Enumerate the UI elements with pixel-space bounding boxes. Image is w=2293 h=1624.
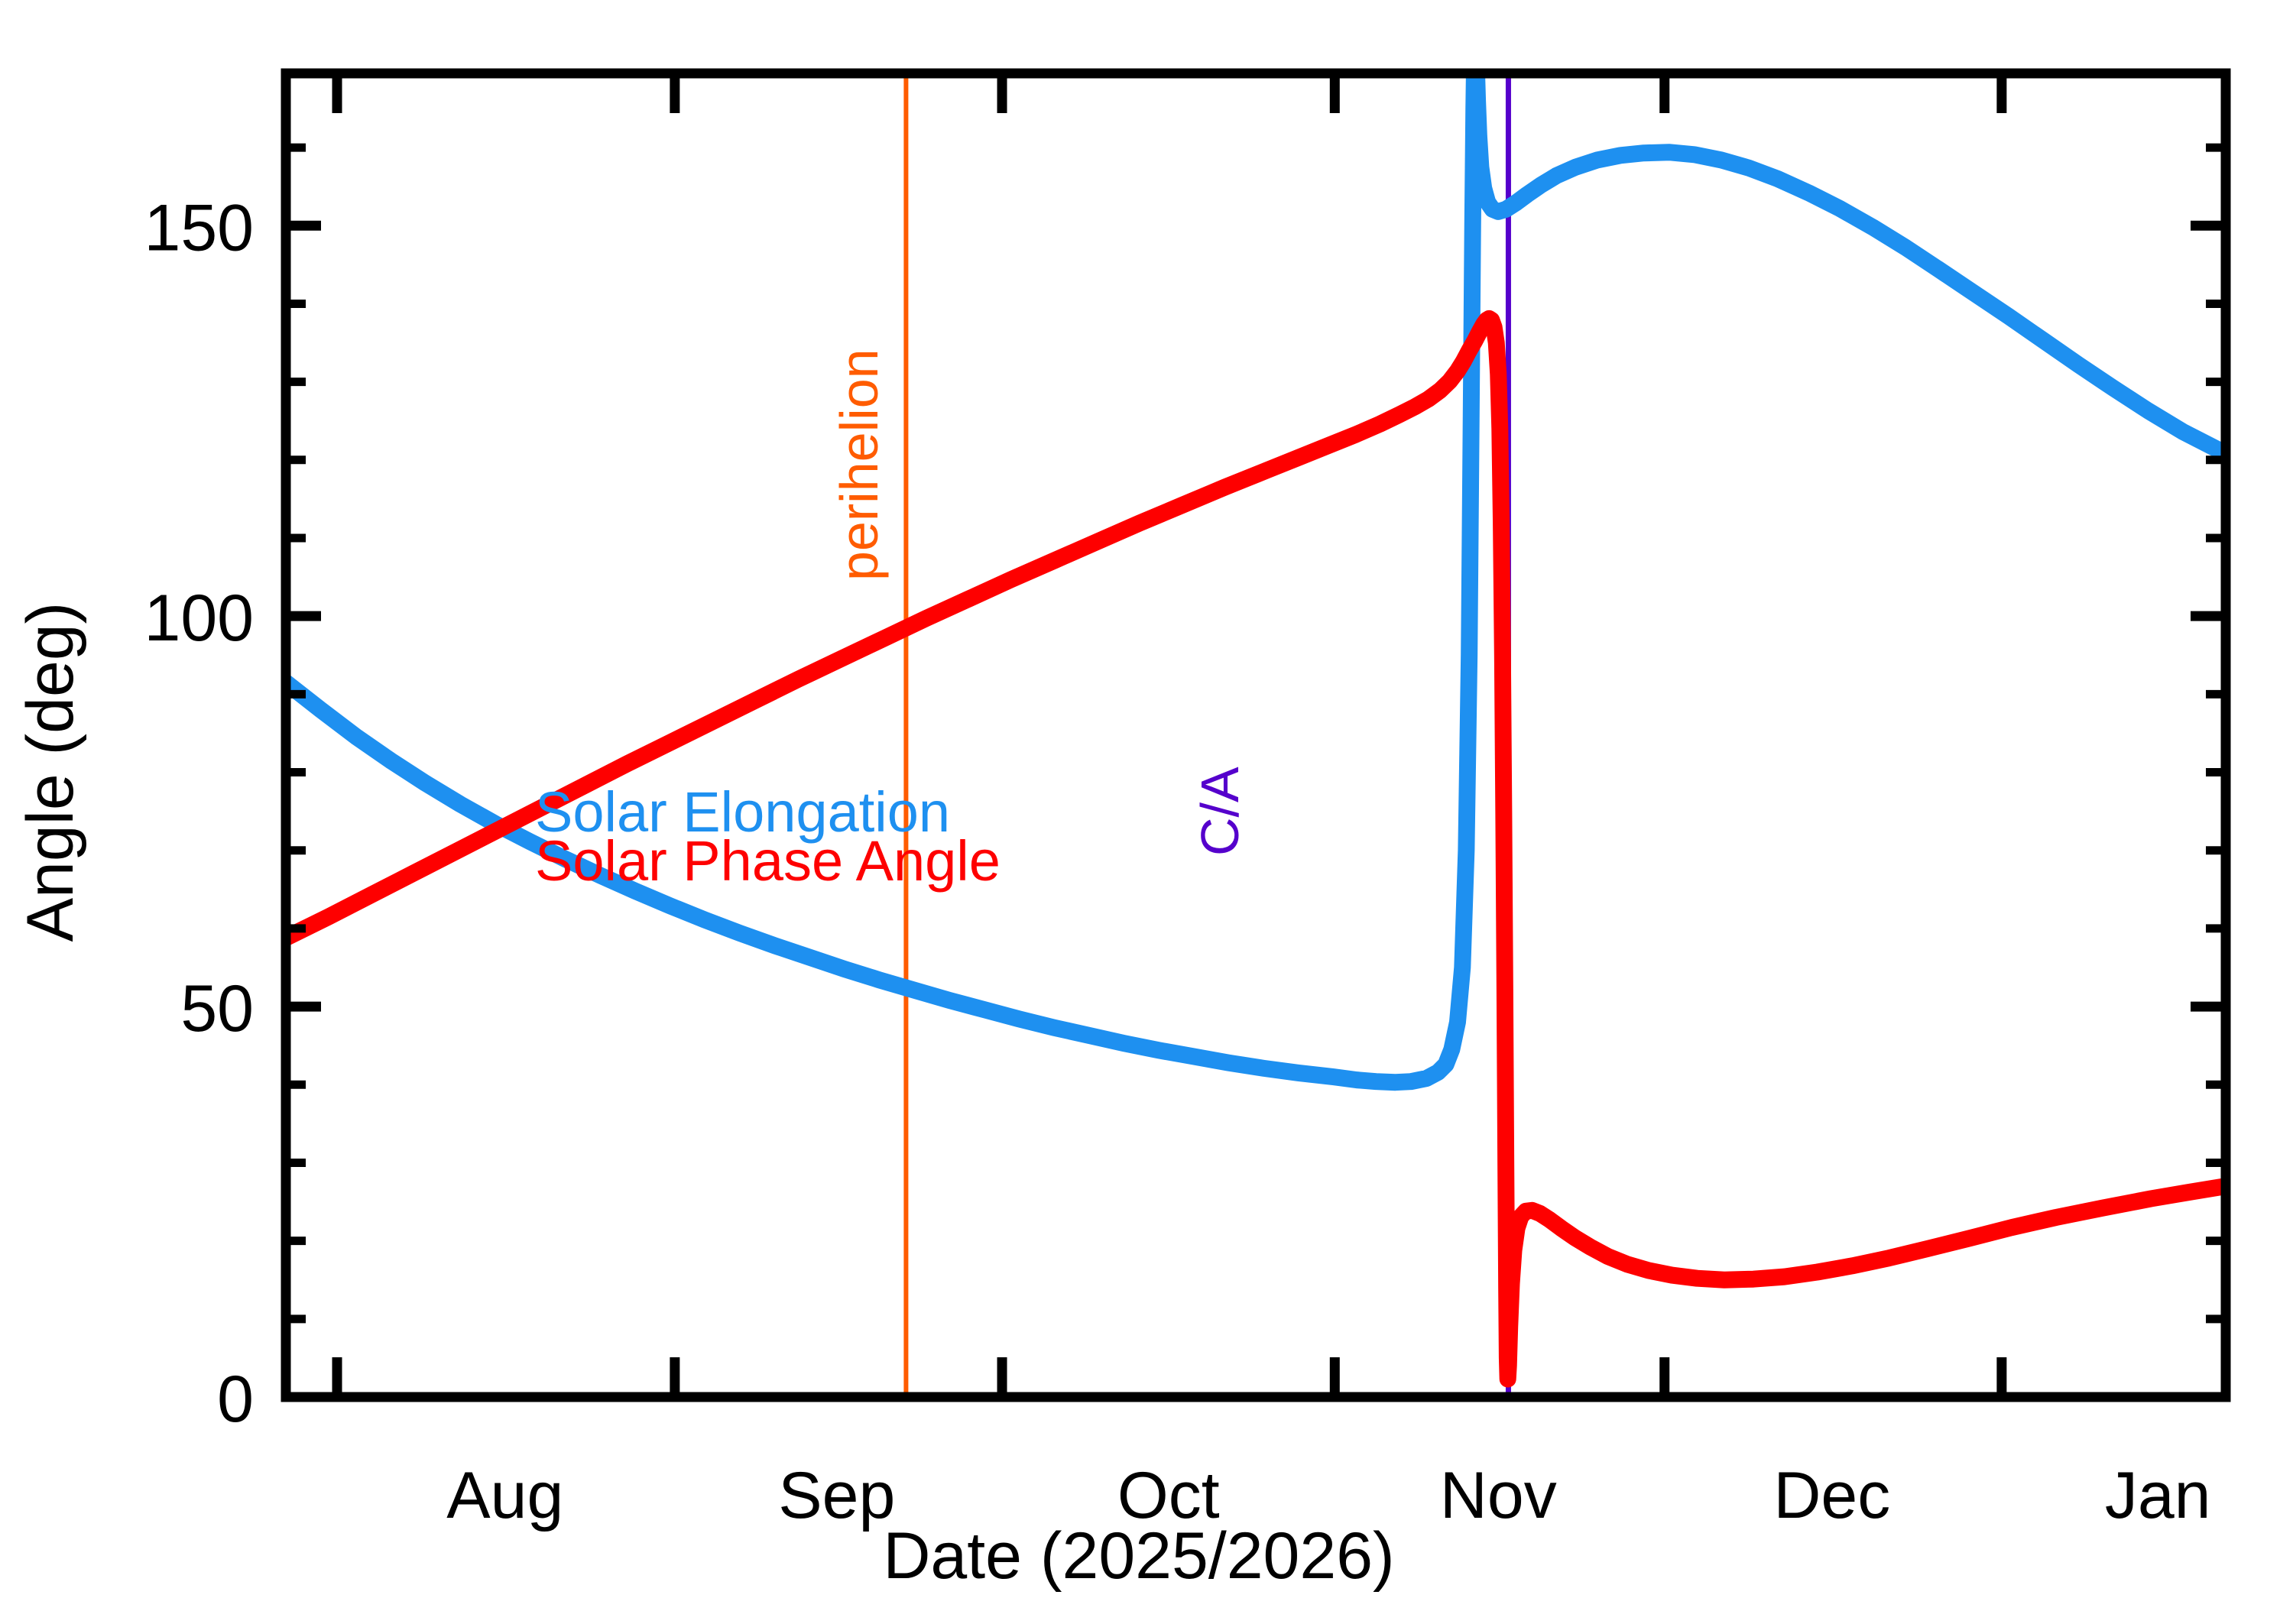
perihelion-annotation-label: perihelion	[829, 348, 889, 581]
y-tick-label-50: 50	[180, 972, 254, 1045]
x-tick-label-aug: Aug	[446, 1459, 563, 1532]
x-tick-label-sep: Sep	[778, 1459, 895, 1532]
y-axis-title: Angle (deg)	[14, 602, 87, 942]
y-tick-label-150: 150	[144, 191, 255, 264]
x-tick-label-dec: Dec	[1773, 1459, 1890, 1532]
x-tick-label-nov: Nov	[1440, 1459, 1557, 1532]
y-tick-label-0: 0	[217, 1363, 254, 1436]
chart-background	[0, 0, 2293, 1624]
x-axis-title: Date (2025/2026)	[883, 1519, 1394, 1593]
close-approach-annotation-label: C/A	[1190, 767, 1250, 856]
legend: Solar Elongation Solar Phase Angle	[535, 780, 1001, 893]
y-tick-label-100: 100	[144, 582, 255, 655]
x-tick-label-jan: Jan	[2105, 1459, 2211, 1532]
solar-geometry-chart: 050100150AugSepOctNovDecJan Date (2025/2…	[0, 0, 2293, 1624]
chart-canvas: 050100150AugSepOctNovDecJan Date (2025/2…	[0, 0, 2293, 1624]
legend-label-solar-phase-angle: Solar Phase Angle	[535, 829, 1001, 893]
